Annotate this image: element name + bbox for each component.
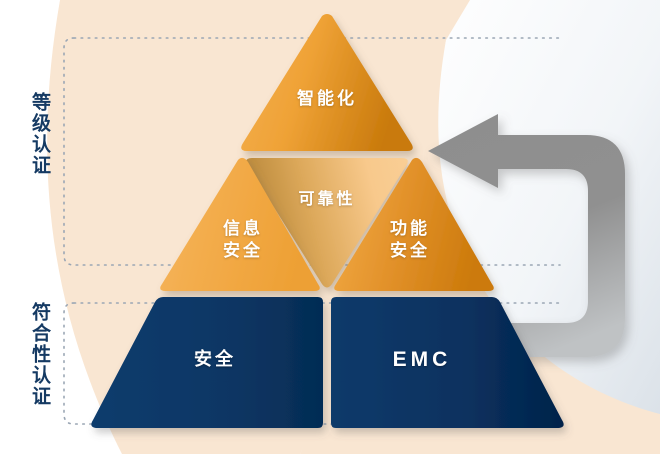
tile-label-smart: 智能化	[267, 88, 387, 110]
side-label-compliance-certification: 符合性认证	[30, 302, 49, 407]
tile-label-funcsafe: 功能 安全	[362, 218, 458, 262]
side-label-level-certification: 等级认证	[30, 92, 49, 176]
tile-label-infosec: 信息 安全	[195, 218, 291, 262]
tile-label-safety: 安全	[155, 348, 275, 371]
tile-label-emc: EMC	[362, 347, 482, 374]
tile-smart[interactable]	[241, 14, 413, 151]
diagram-canvas: 等级认证 符合性认证 智能化 可靠性 信息 安全 功能 安全 安全 EMC	[0, 0, 660, 454]
pyramid-layer	[0, 0, 660, 454]
tile-label-reliability: 可靠性	[267, 190, 387, 210]
